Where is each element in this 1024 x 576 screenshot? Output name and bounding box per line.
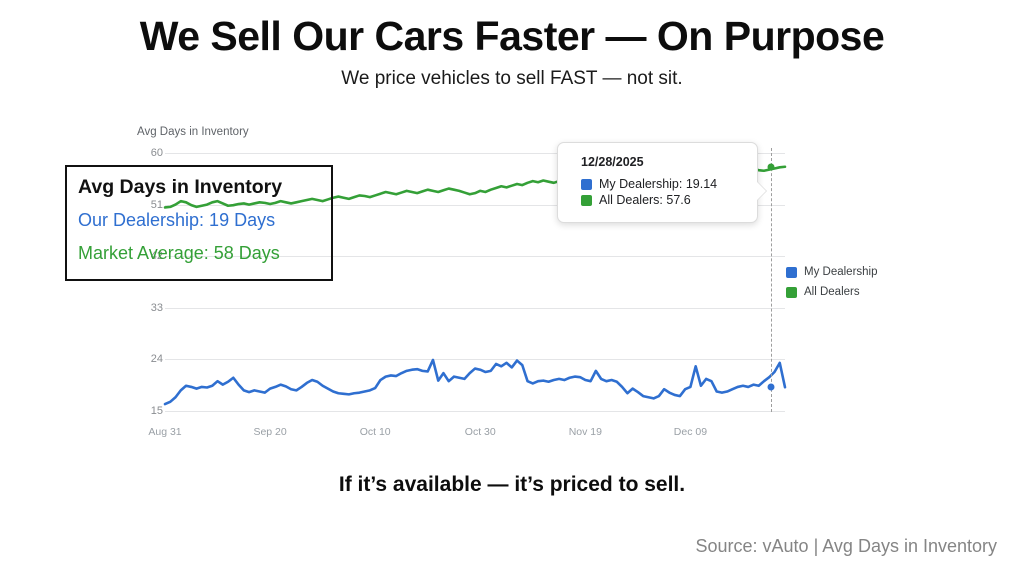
tooltip-pointer-arrow: [757, 182, 766, 200]
legend-item-all-dealers[interactable]: All Dealers: [786, 282, 878, 302]
tooltip-swatch-all-dealers: [581, 195, 592, 206]
legend-label-all-dealers: All Dealers: [804, 286, 860, 298]
endpoint-dot-all-dealers: [768, 163, 775, 170]
tooltip-label-all-dealers: All Dealers: 57.6: [599, 193, 691, 207]
tooltip-row-my-dealership: My Dealership: 19.14: [558, 176, 757, 192]
footer-kicker-text: If it’s available — it’s priced to sell.: [0, 473, 1024, 497]
callout-box: Avg Days in Inventory Our Dealership: 19…: [65, 165, 333, 281]
tooltip-row-all-dealers: All Dealers: 57.6: [558, 192, 757, 208]
legend-swatch-my-dealership: [786, 267, 797, 278]
legend-item-my-dealership[interactable]: My Dealership: [786, 262, 878, 282]
tooltip-date: 12/28/2025: [558, 155, 757, 176]
chart-tooltip: 12/28/2025 My Dealership: 19.14 All Deal…: [557, 142, 758, 223]
source-attribution: Source: vAuto | Avg Days in Inventory: [696, 536, 998, 557]
endpoint-dot-my-dealership: [768, 384, 775, 391]
legend-label-my-dealership: My Dealership: [804, 266, 878, 278]
series-line-my-dealership: [165, 360, 785, 404]
tooltip-swatch-my-dealership: [581, 179, 592, 190]
legend-swatch-all-dealers: [786, 287, 797, 298]
current-date-marker-line: [771, 148, 772, 412]
page-subtitle: We price vehicles to sell FAST — not sit…: [0, 68, 1024, 90]
avg-days-in-inventory-chart: Avg Days in Inventory 605142332415 Aug 3…: [0, 110, 1024, 455]
callout-market-average: Market Average: 58 Days: [78, 243, 280, 264]
tooltip-label-my-dealership: My Dealership: 19.14: [599, 177, 717, 191]
page-title: We Sell Our Cars Faster — On Purpose: [0, 14, 1024, 60]
callout-our-dealership: Our Dealership: 19 Days: [78, 210, 275, 231]
callout-title: Avg Days in Inventory: [78, 176, 282, 199]
chart-legend: My Dealership All Dealers: [786, 262, 878, 302]
